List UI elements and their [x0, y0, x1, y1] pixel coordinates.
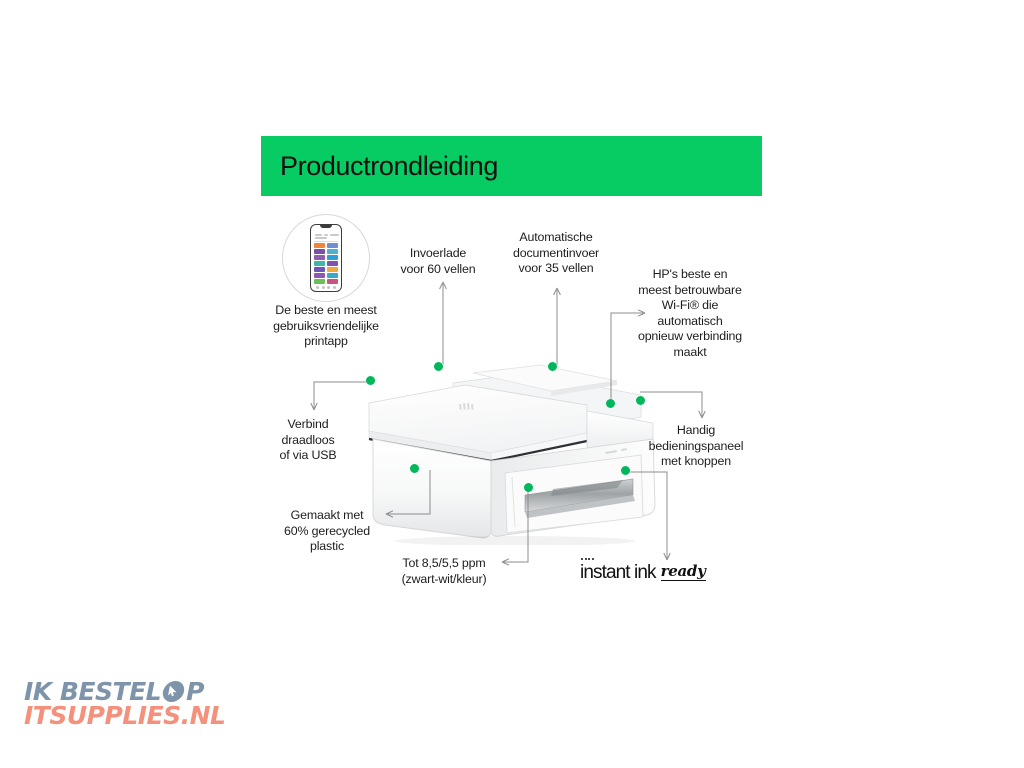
callout-wifi: HP's beste en meest betrouwbare Wi-Fi® d…	[620, 267, 760, 361]
callout-print-app: De beste en meest gebruiksvriendelijke p…	[253, 303, 399, 350]
leader-line-adf	[552, 286, 562, 365]
instant-ink-text: instant ink	[580, 562, 656, 583]
printer-illustration	[355, 355, 675, 545]
phone-body	[310, 224, 342, 292]
callout-print-speed: Tot 8,5/5,5 ppm (zwart-wit/kleur)	[380, 556, 508, 587]
hotspot-dot-adf[interactable]	[548, 362, 557, 371]
instant-ink-ready-text: ready	[661, 564, 706, 581]
callout-adf: Automatische documentinvoer voor 35 vell…	[485, 230, 627, 277]
callout-recycled-plastic: Gemaakt met 60% gerecycled plastic	[263, 508, 391, 555]
instant-ink-dots-icon	[581, 558, 594, 560]
hotspot-dot-connectivity[interactable]	[366, 376, 375, 385]
hotspot-dot-print-speed[interactable]	[524, 483, 533, 492]
callout-control-panel: Handig bedieningspaneel met knoppen	[628, 423, 764, 470]
phone-dock	[315, 285, 337, 290]
phone-notch	[320, 225, 332, 228]
hotspot-dot-wifi[interactable]	[606, 399, 615, 408]
callout-input-tray: Invoerlade voor 60 vellen	[373, 246, 503, 277]
phone-app-grid	[314, 243, 338, 284]
instant-ink-wordmark: instant ink	[580, 563, 656, 582]
print-app-phone-icon	[282, 214, 370, 302]
hotspot-dot-recycled[interactable]	[410, 464, 419, 473]
header-banner: Productrondleiding	[261, 136, 762, 196]
instant-ink-ready-logo: instant ink ready	[580, 563, 706, 582]
callout-connectivity: Verbind draadloos of via USB	[257, 417, 359, 464]
phone-toolbar	[314, 231, 338, 242]
hotspot-dot-control-panel[interactable]	[636, 396, 645, 405]
cursor-arrow-icon	[161, 681, 186, 702]
brand-line-2: ITSUPPLIES.NL	[24, 704, 225, 728]
page-title: Productrondleiding	[280, 153, 498, 180]
brand-watermark: IK BESTEL P ITSUPPLIES.NL	[24, 680, 225, 728]
hotspot-dot-input-tray[interactable]	[434, 362, 443, 371]
leader-line-input-tray	[438, 280, 448, 364]
